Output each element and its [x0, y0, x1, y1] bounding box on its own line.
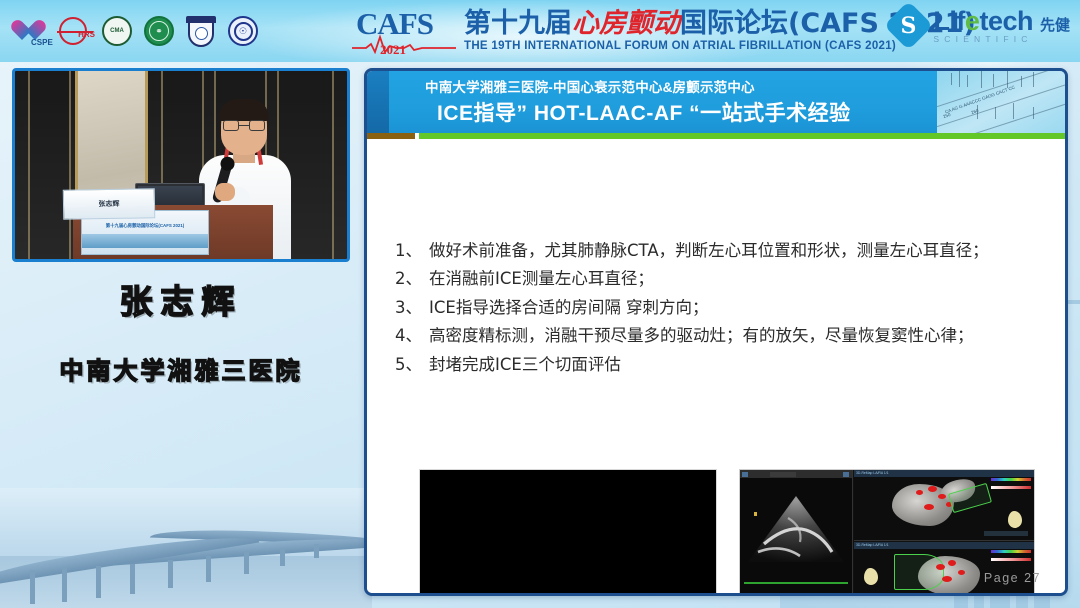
lifetech-chinese-name: 先健	[1040, 18, 1070, 33]
list-item: 2、 在消融前ICE测量左心耳直径；	[395, 267, 1031, 290]
cspe-logo: CSPE	[12, 14, 46, 48]
eyeglasses-icon	[223, 120, 265, 131]
speaker-info-block: 张志辉 中南大学湘雅三医院	[12, 280, 350, 386]
seal-logo-2: ⚭	[142, 14, 176, 48]
banner-title-cn-cursive: 心房颤动	[572, 8, 680, 39]
banner-title-cn-pre: 第十九届	[464, 8, 572, 39]
slide-header: CA AG G AAACCC GAGG CACT CC 260 250 中南大学…	[389, 71, 1065, 133]
podium: 第十九届心房颤动国际论坛(CAFS 2021) 张志辉	[73, 205, 273, 259]
list-item-text: 高密度精标测，消融干预尽量多的驱动灶；有的放矢，尽量恢复窦性心律；	[429, 324, 1031, 347]
hrs-label: HRS	[78, 30, 95, 39]
organizer-logo-row: CSPE HRS CMA ⚭ ☉	[0, 14, 260, 48]
slide-left-accent-band	[367, 71, 389, 141]
slide-subtitle: 中南大学湘雅三医院-中国心衰示范中心&房颤示范中心	[425, 76, 755, 96]
cafs-year: 2021	[380, 42, 406, 58]
list-item-number: 4、	[395, 324, 429, 347]
bullet-list: 1、 做好术前准备，尤其肺静脉CTA，判断左心耳位置和形状，测量左心耳直径； 2…	[395, 239, 1031, 381]
list-item-number: 3、	[395, 296, 429, 319]
conference-banner: CSPE HRS CMA ⚭ ☉ CAFS 2021 第十九届心房颤动国际论坛(…	[0, 0, 1080, 62]
list-item: 1、 做好术前准备，尤其肺静脉CTA，判断左心耳位置和形状，测量左心耳直径；	[395, 239, 1031, 262]
lifetech-mark-glyph: S	[901, 13, 917, 39]
seal-logo-3: ☉	[226, 14, 260, 48]
list-item-text: ICE指导选择合适的房间隔 穿刺方向；	[429, 296, 1031, 319]
page-number: Page 27	[984, 571, 1041, 585]
lifetech-name-post: tech	[979, 6, 1033, 36]
presentation-slide[interactable]: CA AG G AAACCC GAGG CACT CC 260 250 中南大学…	[364, 68, 1068, 596]
seal-1-label: CMA	[102, 16, 132, 46]
ice-ultrasound-pane	[740, 470, 853, 596]
ice-3d-map-top: 3D-ReMap LA/RA 1/1	[854, 470, 1034, 541]
video-frame: 第十九届心房颤动国际论坛(CAFS 2021) 张志辉	[15, 71, 347, 259]
background-bridge-image	[0, 488, 372, 608]
lifetech-name-accent: e	[965, 6, 980, 36]
list-item: 4、 高密度精标测，消融干预尽量多的驱动灶；有的放矢，尽量恢复窦性心律；	[395, 324, 1031, 347]
list-item: 5、 封堵完成ICE三个切面评估	[395, 353, 1031, 376]
cafs-logo: CAFS 2021	[356, 4, 460, 58]
hrs-logo: HRS	[54, 14, 92, 48]
list-item-text: 封堵完成ICE三个切面评估	[429, 353, 1031, 376]
podium-banner-title: 第十九届心房颤动国际论坛(CAFS 2021)	[82, 223, 208, 229]
list-item: 3、 ICE指导选择合适的房间隔 穿刺方向；	[395, 296, 1031, 319]
ultrasound-titlebar	[740, 470, 852, 478]
speaker-nameplate: 张志辉	[63, 188, 156, 220]
lifetech-mark-icon: S	[884, 1, 933, 50]
lifetech-name-pre: Lif	[933, 6, 965, 36]
speaker-video-feed[interactable]: 第十九届心房颤动国际论坛(CAFS 2021) 张志辉	[12, 68, 350, 262]
seal-logo-1: CMA	[100, 14, 134, 48]
speaker-name: 张志辉	[12, 280, 350, 325]
nameplate-text: 张志辉	[64, 198, 154, 210]
ultrasound-image	[748, 496, 844, 574]
video-placeholder-left[interactable]	[419, 469, 717, 596]
list-item-text: 在消融前ICE测量左心耳直径；	[429, 267, 1031, 290]
list-item-number: 1、	[395, 239, 429, 262]
list-item-number: 5、	[395, 353, 429, 376]
cspe-label: CSPE	[31, 38, 53, 47]
slide-body: 1、 做好术前准备，尤其肺静脉CTA，判断左心耳位置和形状，测量左心耳直径； 2…	[367, 139, 1065, 593]
list-item-number: 2、	[395, 267, 429, 290]
lifetech-subtitle: SCIENTIFIC	[933, 35, 1033, 44]
slide-title: ICE指导” HOT-LAAC-AF “一站式手术经验	[437, 97, 851, 127]
list-item-text: 做好术前准备，尤其肺静脉CTA，判断左心耳位置和形状，测量左心耳直径；	[429, 239, 1031, 262]
sponsor-logo-lifetech: S Lifetech SCIENTIFIC 先健	[891, 8, 1070, 44]
speaker-affiliation: 中南大学湘雅三医院	[12, 351, 350, 386]
chromatogram-decoration: CA AG G AAACCC GAGG CACT CC 260 250	[937, 71, 1065, 133]
shield-logo	[184, 14, 218, 48]
ice-3d-map-bottom: 3D-ReMap LA/RA 1/1	[854, 542, 1034, 596]
